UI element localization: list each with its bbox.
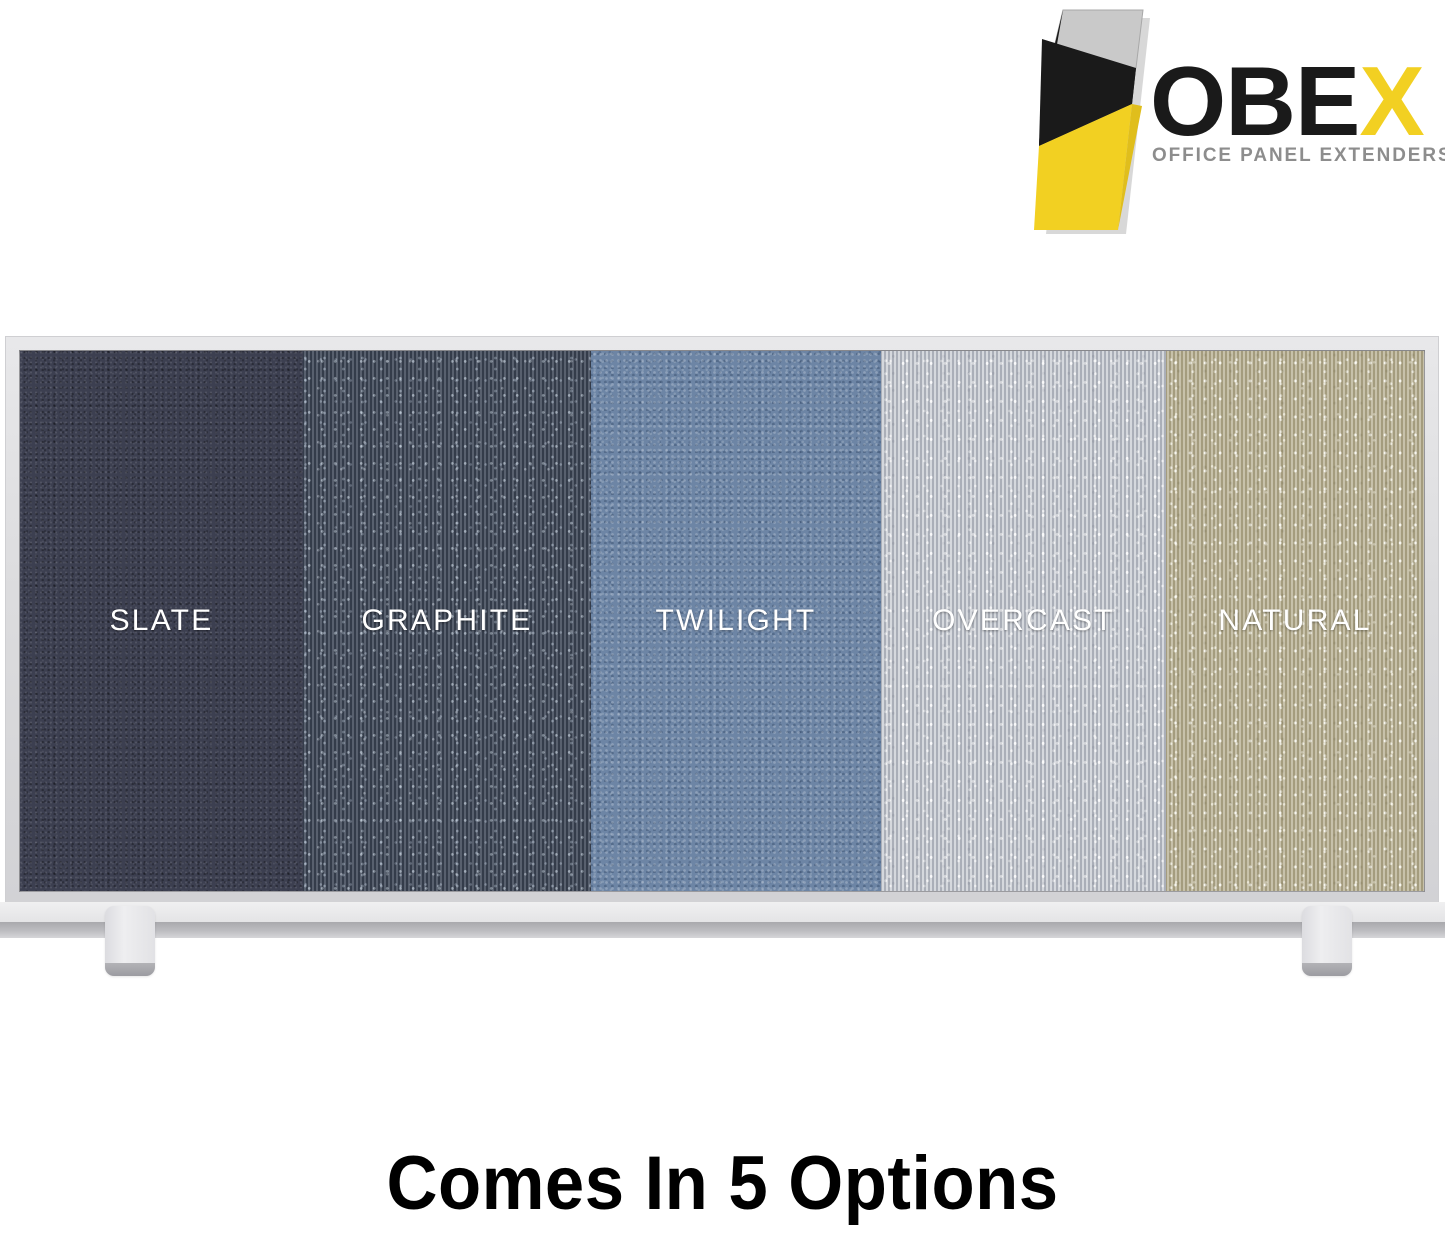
foot-base-left xyxy=(105,963,155,976)
swatch-label-slate: SLATE xyxy=(110,604,214,638)
panel-mounting-foot-right xyxy=(1302,906,1352,976)
product-image-canvas: OBEX OFFICE PANEL EXTENDERS SLATE GRAPHI… xyxy=(0,0,1445,1236)
swatch-label-natural: NATURAL xyxy=(1218,604,1371,638)
rail-highlight xyxy=(0,902,1445,922)
obex-wordmark-text: OBEX xyxy=(1150,52,1424,150)
obex-parallelogram-mark-icon xyxy=(1032,6,1150,234)
swatch-label-overcast: OVERCAST xyxy=(932,604,1115,638)
panel-extender-product: SLATE GRAPHITE TWILIGHT OVERCAST NATURAL xyxy=(5,336,1439,906)
headline-text: Comes In 5 Options xyxy=(51,1140,1395,1227)
obex-wordmark-accent: X xyxy=(1359,46,1423,156)
obex-logo: OBEX OFFICE PANEL EXTENDERS xyxy=(1032,4,1432,234)
foot-base-right xyxy=(1302,963,1352,976)
obex-tagline: OFFICE PANEL EXTENDERS xyxy=(1152,144,1445,167)
swatch-label-twilight: TWILIGHT xyxy=(656,604,817,638)
panel-bottom-rail xyxy=(0,902,1445,938)
rail-shadow xyxy=(0,922,1445,938)
panel-mounting-foot-left xyxy=(105,906,155,976)
obex-wordmark-dark: OBE xyxy=(1150,46,1359,156)
swatch-label-graphite: GRAPHITE xyxy=(362,604,533,638)
obex-wordmark: OBEX OFFICE PANEL EXTENDERS xyxy=(1150,52,1432,182)
